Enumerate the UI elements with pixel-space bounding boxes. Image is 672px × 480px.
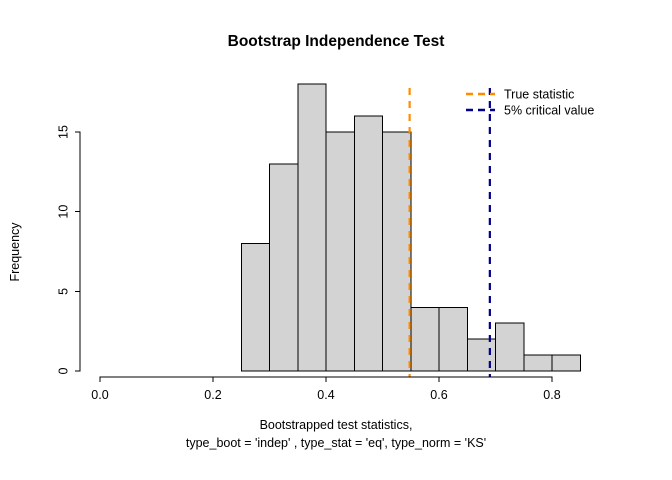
x-axis-label-line1: Bootstrapped test statistics, (260, 418, 413, 432)
x-axis-label-line2: type_boot = 'indep' , type_stat = 'eq', … (186, 436, 486, 450)
legend-label: 5% critical value (504, 104, 594, 118)
x-tick-label: 0.2 (204, 388, 221, 402)
histogram-bar (298, 84, 326, 371)
y-tick-label: 10 (56, 205, 70, 219)
x-tick-label: 0.6 (430, 388, 447, 402)
histogram-bar (439, 307, 467, 371)
histogram-bar (552, 355, 580, 371)
histogram-bar (241, 244, 269, 371)
histogram-bar (354, 116, 382, 371)
y-tick-label: 0 (56, 367, 70, 374)
histogram-bar (270, 164, 298, 371)
histogram-bar (326, 132, 354, 371)
x-tick-label: 0.0 (91, 388, 108, 402)
histogram-bar (496, 323, 524, 371)
x-tick-label: 0.4 (317, 388, 334, 402)
plot-canvas: Bootstrap Independence Test 0.00.20.40.6… (0, 0, 672, 480)
histogram-bar (383, 132, 411, 371)
y-tick-label: 15 (56, 125, 70, 139)
histogram-bar (524, 355, 552, 371)
histogram-bar (467, 339, 495, 371)
x-tick-label: 0.8 (543, 388, 560, 402)
y-axis-label: Frequency (8, 222, 22, 282)
y-tick-label: 5 (56, 288, 70, 295)
page-title: Bootstrap Independence Test (228, 33, 445, 50)
legend-label: True statistic (504, 88, 574, 102)
histogram-bar (411, 307, 439, 371)
histogram-figure: Bootstrap Independence Test 0.00.20.40.6… (0, 0, 672, 480)
